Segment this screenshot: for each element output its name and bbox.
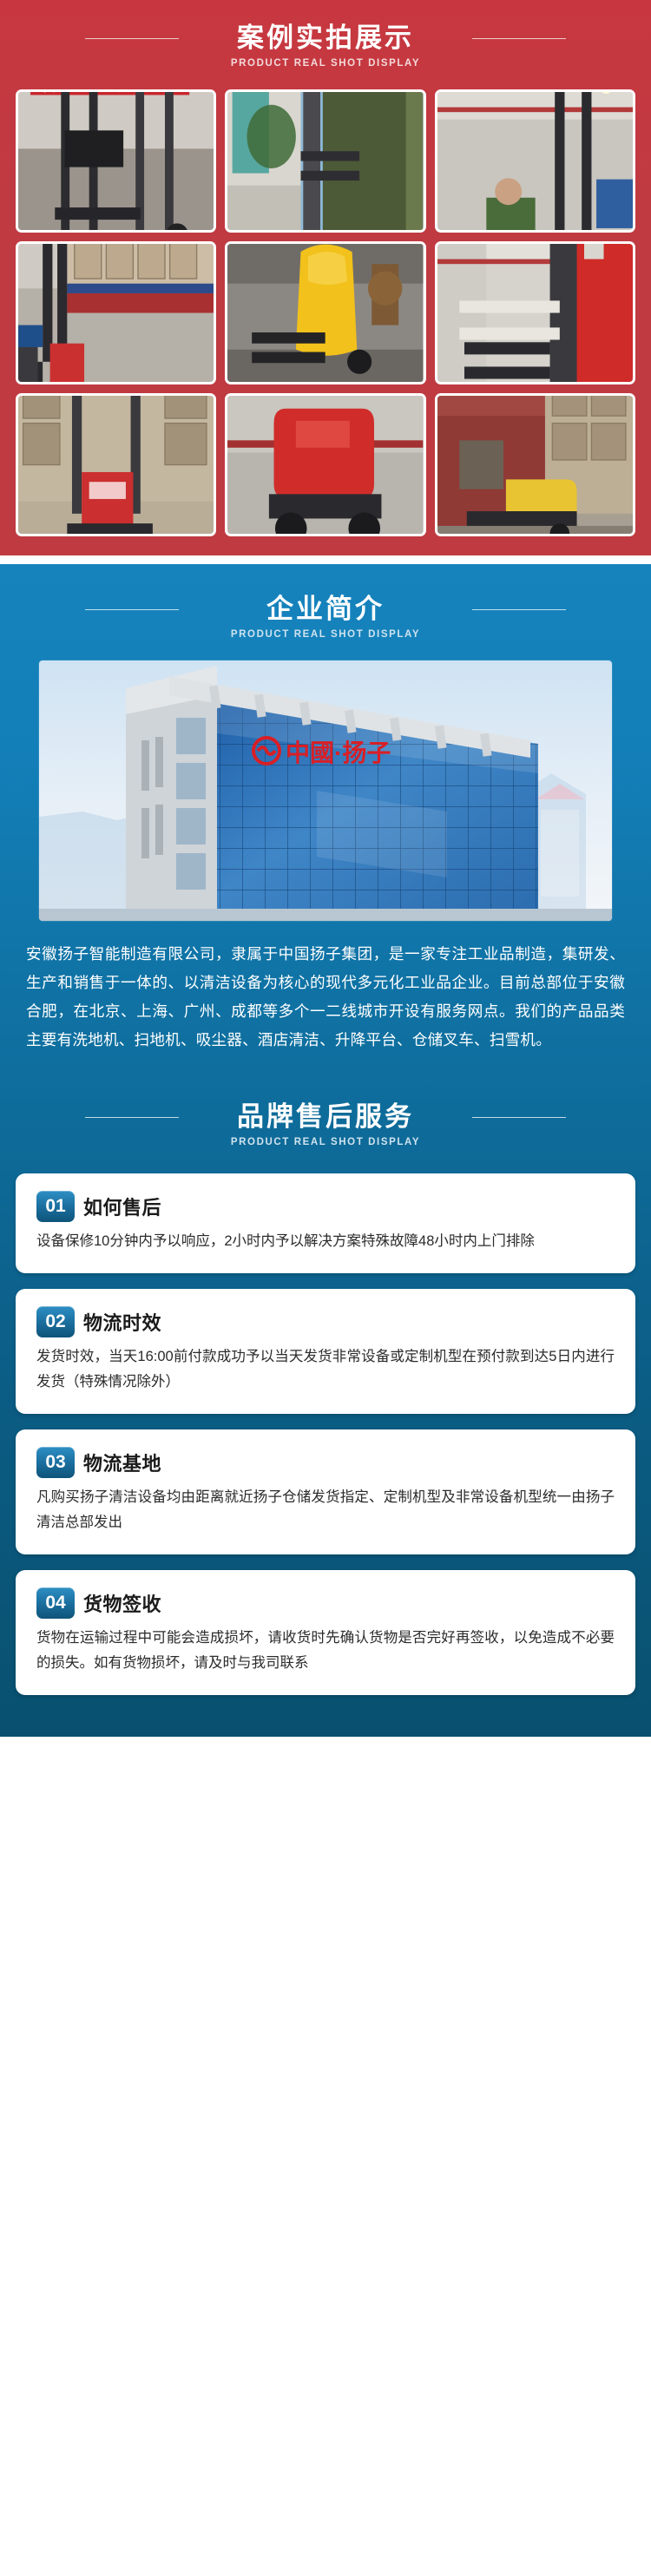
service-card-number: 04 bbox=[36, 1587, 75, 1619]
svg-text:中國·扬子: 中國·扬子 bbox=[286, 739, 391, 766]
service-card-title: 物流时效 bbox=[83, 1308, 161, 1336]
case-photo-7[interactable] bbox=[16, 393, 216, 536]
service-title-en: PRODUCT REAL SHOT DISPLAY bbox=[0, 1137, 651, 1147]
case-photo-8[interactable] bbox=[225, 393, 425, 536]
cases-title-en: PRODUCT REAL SHOT DISPLAY bbox=[0, 58, 651, 69]
header-rule-right bbox=[472, 1117, 566, 1118]
header-rule-left bbox=[85, 1117, 179, 1118]
service-card-number: 03 bbox=[36, 1447, 75, 1478]
case-photo-3[interactable] bbox=[435, 89, 635, 233]
service-card-body: 发货时效，当天16:00前付款成功予以当天发货非常设备或定制机型在预付款到达5日… bbox=[36, 1344, 615, 1395]
service-section-header: 品牌售后服务 PRODUCT REAL SHOT DISPLAY bbox=[0, 1094, 651, 1156]
service-card-body: 凡购买扬子清洁设备均由距离就近扬子仓储发货指定、定制机型及非常设备机型统一由扬子… bbox=[36, 1485, 615, 1535]
header-rule-right bbox=[472, 609, 566, 610]
service-card-head: 04 货物签收 bbox=[36, 1587, 615, 1619]
company-description: 安徽扬子智能制造有限公司，隶属于中国扬子集团，是一家专注工业品制造，集研发、生产… bbox=[26, 940, 625, 1055]
service-card[interactable]: 01 如何售后 设备保修10分钟内予以响应，2小时内予以解决方案特殊故障48小时… bbox=[16, 1173, 635, 1273]
company-section-header: 企业简介 PRODUCT REAL SHOT DISPLAY bbox=[0, 587, 651, 648]
service-card-list: 01 如何售后 设备保修10分钟内予以响应，2小时内予以解决方案特殊故障48小时… bbox=[16, 1173, 635, 1737]
service-card-head: 02 物流时效 bbox=[36, 1306, 615, 1337]
service-card-body: 货物在运输过程中可能会造成损坏，请收货时先确认货物是否完好再签收，以免造成不必要… bbox=[36, 1626, 615, 1676]
case-photo-1[interactable]: 安 质量第一 bbox=[16, 89, 216, 233]
company-building-photo: 中國·扬子 bbox=[39, 660, 612, 921]
service-card[interactable]: 04 货物签收 货物在运输过程中可能会造成损坏，请收货时先确认货物是否完好再签收… bbox=[16, 1570, 635, 1695]
header-rule-left bbox=[85, 609, 179, 610]
cases-section: 案例实拍展示 PRODUCT REAL SHOT DISPLAY 安 质量第一 bbox=[0, 0, 651, 555]
header-rule-left bbox=[85, 38, 179, 39]
company-title-en: PRODUCT REAL SHOT DISPLAY bbox=[0, 629, 651, 640]
company-and-service-section: 企业简介 PRODUCT REAL SHOT DISPLAY bbox=[0, 564, 651, 1737]
service-section-header-wrap: 品牌售后服务 PRODUCT REAL SHOT DISPLAY bbox=[0, 1055, 651, 1156]
service-card[interactable]: 02 物流时效 发货时效，当天16:00前付款成功予以当天发货非常设备或定制机型… bbox=[16, 1289, 635, 1414]
header-rule-right bbox=[472, 38, 566, 39]
case-photo-5[interactable] bbox=[225, 241, 425, 384]
service-title-cn: 品牌售后服务 bbox=[237, 1100, 414, 1134]
case-photo-4[interactable] bbox=[16, 241, 216, 384]
svg-text:质量第一: 质量第一 bbox=[91, 92, 135, 94]
service-card-body: 设备保修10分钟内予以响应，2小时内予以解决方案特殊故障48小时内上门排除 bbox=[36, 1229, 615, 1254]
svg-text:安: 安 bbox=[43, 92, 56, 95]
service-card-title: 物流基地 bbox=[83, 1449, 161, 1476]
section-divider bbox=[0, 555, 651, 564]
service-card-title: 如何售后 bbox=[83, 1193, 161, 1220]
cases-section-header: 案例实拍展示 PRODUCT REAL SHOT DISPLAY bbox=[0, 16, 651, 77]
company-logo-on-building: 中國·扬子 bbox=[253, 738, 391, 766]
service-card-title: 货物签收 bbox=[83, 1589, 161, 1617]
case-photo-2[interactable] bbox=[225, 89, 425, 233]
service-card[interactable]: 03 物流基地 凡购买扬子清洁设备均由距离就近扬子仓储发货指定、定制机型及非常设… bbox=[16, 1429, 635, 1554]
service-card-number: 01 bbox=[36, 1191, 75, 1222]
case-photo-6[interactable] bbox=[435, 241, 635, 384]
product-detail-page: 案例实拍展示 PRODUCT REAL SHOT DISPLAY 安 质量第一 bbox=[0, 0, 651, 1737]
service-card-number: 02 bbox=[36, 1306, 75, 1337]
service-card-head: 01 如何售后 bbox=[36, 1191, 615, 1222]
case-photo-9[interactable] bbox=[435, 393, 635, 536]
cases-title-cn: 案例实拍展示 bbox=[237, 21, 414, 56]
service-card-head: 03 物流基地 bbox=[36, 1447, 615, 1478]
company-title-cn: 企业简介 bbox=[266, 592, 385, 627]
case-photo-grid: 安 质量第一 bbox=[16, 89, 635, 536]
